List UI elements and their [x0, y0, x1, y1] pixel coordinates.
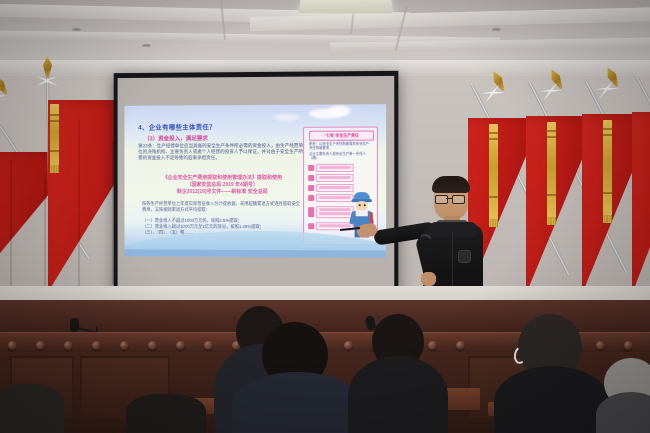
panel-row	[308, 206, 353, 218]
slide-subtitle: （3）资金投入，满足要求	[144, 134, 208, 142]
panel-header-label: “七有”安全生产责任	[310, 132, 373, 140]
slide-pink-line-2: （国家安监总局 2019 年4期号）	[130, 182, 315, 189]
rail-stud	[120, 341, 129, 350]
rail-stud	[624, 341, 633, 350]
panel-note: 企业主要负责人是安全生产第一责任人（略）	[309, 152, 372, 161]
projection-screen[interactable]: 4、企业有哪些主体责任？ （3）资金投入，满足要求 第23条：生产经营单位应当具…	[114, 71, 399, 295]
slide-pink-line-1: 《企业安全生产费用提取和使用管理办法》提取和使用	[130, 175, 315, 182]
slide-footer-strip	[124, 249, 386, 257]
panel-row	[308, 194, 353, 202]
slide-pink-line-3: 财企2012[16]号文件——新标准 安全总局	[130, 189, 315, 196]
rail-stud	[92, 341, 101, 350]
presenter-hair	[432, 176, 470, 193]
cloud-shape	[273, 114, 299, 121]
panel-row-bar	[316, 174, 353, 182]
panel-row	[308, 174, 353, 182]
rail-stud	[428, 341, 437, 350]
rail-stud	[596, 341, 605, 350]
glasses-icon	[435, 195, 448, 204]
slide-paragraph: 第23条：生产经营单位应当具备的安全生产条件所必需的资金投入，由生产经营单位的决…	[138, 143, 303, 162]
rail-stud	[344, 341, 353, 350]
jacket-logo	[458, 250, 471, 263]
presentation-slide: 4、企业有哪些主体责任？ （3）资金投入，满足要求 第23条：生产经营单位应当具…	[124, 104, 386, 257]
panel-bullet-icon	[308, 207, 314, 217]
slide-title: 4、企业有哪些主体责任？	[138, 121, 216, 131]
conference-hall-photo: 4、企业有哪些主体责任？ （3）资金投入，满足要求 第23条：生产经营单位应当具…	[0, 0, 650, 433]
panel-header: “七有”安全生产责任	[309, 131, 374, 141]
rail-stud	[36, 341, 45, 350]
rail-stud	[148, 341, 157, 350]
screen-surface: 4、企业有哪些主体责任？ （3）资金投入，满足要求 第23条：生产经营单位应当具…	[118, 76, 395, 291]
presenter-right-hand	[421, 272, 436, 286]
rail-stud	[204, 341, 213, 350]
panel-note: 职责：以安全生产责任制度落实安全生产责任制度要求，	[309, 142, 372, 151]
panel-bullet-icon	[308, 195, 314, 201]
rail-stud	[176, 341, 185, 350]
panel-row-bar	[316, 194, 353, 202]
cloud-shape	[328, 105, 350, 116]
rail-stud	[8, 341, 17, 350]
panel-row-bar	[316, 206, 353, 218]
rail-stud	[456, 341, 465, 350]
panel-bullet-icon	[308, 223, 314, 229]
panel-bullet-icon	[308, 175, 314, 181]
slide-list-intro: 按各生产经营单位上年度实际营业收入为计提依据，采用超额累退方式逐月提取安全费用，…	[142, 201, 303, 213]
panel-row-bar	[316, 184, 353, 192]
panel-row-bar	[316, 164, 353, 172]
panel-bullet-icon	[308, 185, 314, 191]
panel-row	[308, 164, 353, 172]
glasses-icon	[452, 195, 465, 204]
panel-row	[308, 184, 353, 192]
panel-bullet-icon	[308, 165, 314, 171]
glasses-bridge	[446, 198, 452, 199]
rail-stud	[64, 341, 73, 350]
